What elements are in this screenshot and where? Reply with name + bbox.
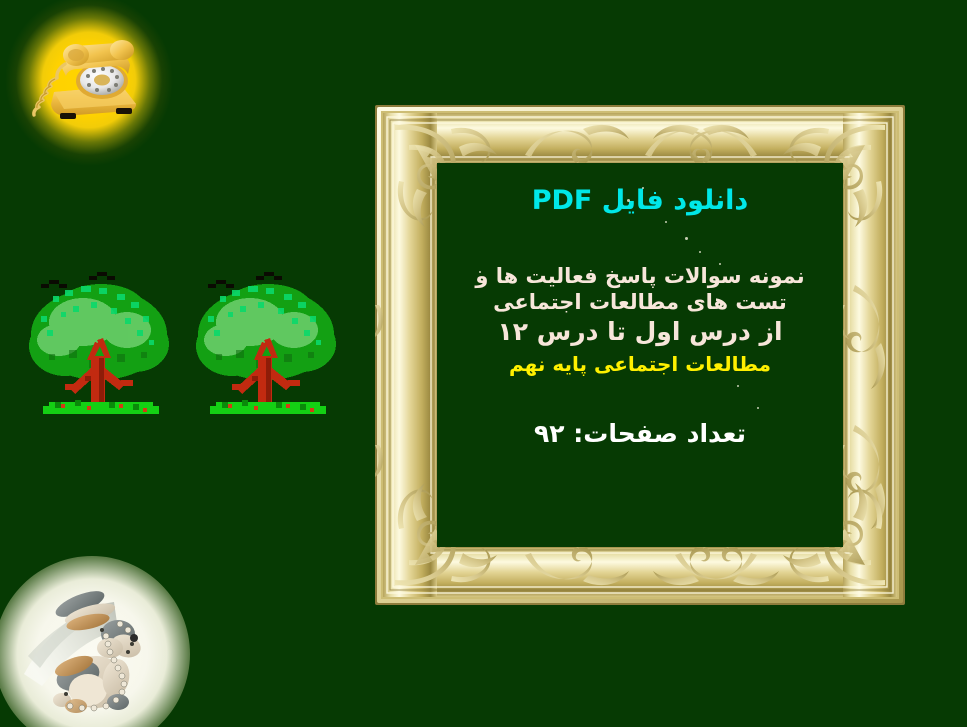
body-line-2: تست های مطالعات اجتماعی: [437, 290, 843, 314]
subject-line: مطالعات اجتماعی پایه نهم: [437, 353, 843, 376]
speckle: [699, 251, 701, 253]
ornate-gold-frame: دانلود فایل PDF نمونه سوالات پاسخ فعالیت…: [375, 105, 905, 605]
download-pdf-title[interactable]: دانلود فایل PDF: [437, 185, 843, 216]
body-line-3: از درس اول تا درس ۱۲: [437, 318, 843, 347]
body-line-1: نمونه سوالات پاسخ فعالیت ها و: [437, 264, 843, 288]
pixel-tree-right: [192, 272, 342, 437]
pixel-tree-left: [25, 272, 175, 437]
pebble-rabbit-icon: [18, 578, 168, 718]
slide-canvas: دانلود فایل PDF نمونه سوالات پاسخ فعالیت…: [0, 0, 967, 727]
page-count-line: تعداد صفحات: ۹۲: [437, 420, 843, 449]
frame-content-area: دانلود فایل PDF نمونه سوالات پاسخ فعالیت…: [437, 163, 843, 547]
speckle: [757, 407, 759, 409]
speckle: [665, 221, 667, 223]
speckle: [685, 237, 688, 240]
rotary-telephone-icon: [24, 24, 154, 128]
speckle: [737, 385, 739, 387]
